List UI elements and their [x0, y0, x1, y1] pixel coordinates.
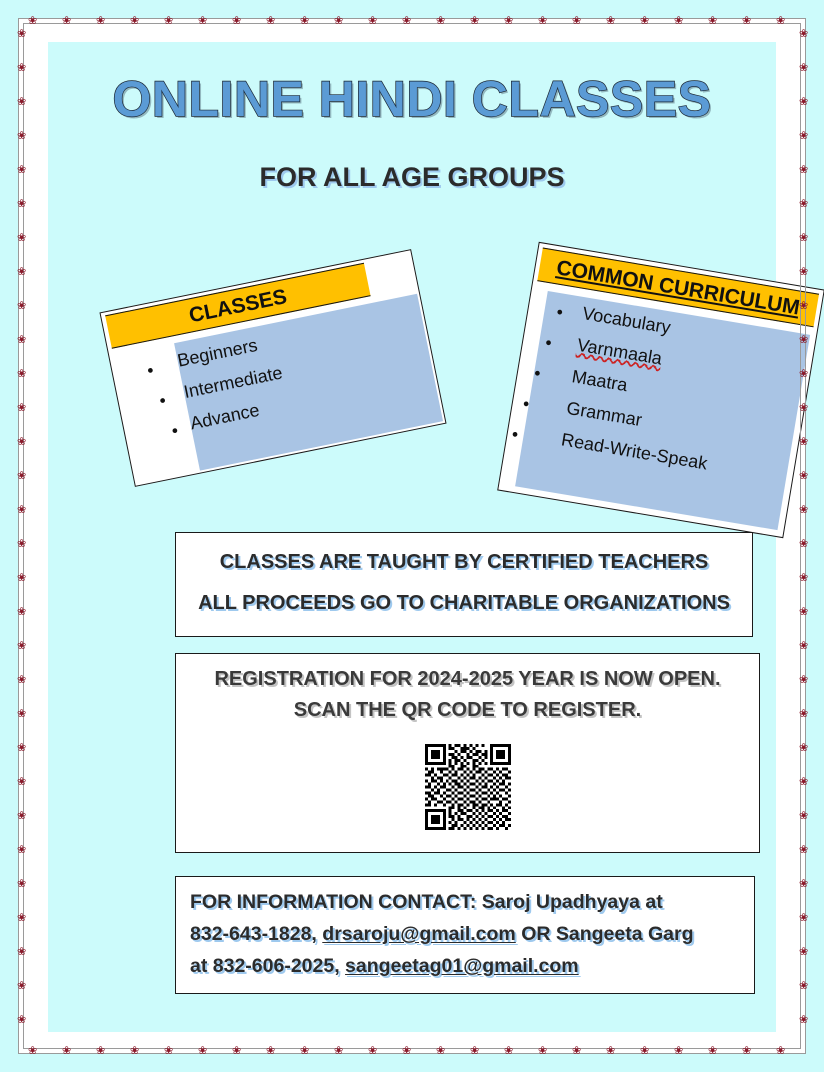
curriculum-list: Vocabulary Varnmaala Maatra Grammar Read…	[507, 295, 730, 486]
contact-line-2-suffix: OR Sangeeta Garg	[521, 923, 693, 945]
contact-phone-1: 832-643-1828,	[190, 923, 317, 945]
contact-email-1[interactable]: drsaroju@gmail.com	[322, 923, 515, 945]
qr-code-container	[176, 744, 759, 830]
page-title: ONLINE HINDI CLASSES	[48, 70, 776, 128]
registration-info-box: REGISTRATION FOR 2024-2025 YEAR IS NOW O…	[175, 653, 760, 853]
classes-card: CLASSES Beginners Intermediate Advance	[99, 249, 446, 487]
contact-phone-2: at 832-606-2025,	[190, 955, 340, 977]
registration-line-2: SCAN THE QR CODE TO REGISTER.	[176, 699, 759, 722]
contact-line-3: at 832-606-2025, sangeetag01@gmail.com	[190, 955, 754, 978]
curriculum-card: COMMON CURRICULUM Vocabulary Varnmaala M…	[497, 242, 824, 538]
registration-line-1: REGISTRATION FOR 2024-2025 YEAR IS NOW O…	[176, 668, 759, 691]
teachers-info-box: CLASSES ARE TAUGHT BY CERTIFIED TEACHERS…	[175, 532, 753, 637]
contact-line-1: FOR INFORMATION CONTACT: Saroj Upadhyaya…	[190, 891, 754, 914]
contact-info-box: FOR INFORMATION CONTACT: Saroj Upadhyaya…	[175, 876, 755, 994]
contact-line-2: 832-643-1828, drsaroju@gmail.com OR Sang…	[190, 923, 754, 946]
teachers-line-1: CLASSES ARE TAUGHT BY CERTIFIED TEACHERS	[176, 551, 752, 574]
qr-code-icon[interactable]	[425, 744, 511, 830]
page-subtitle: FOR ALL AGE GROUPS	[48, 162, 776, 193]
teachers-line-2: ALL PROCEEDS GO TO CHARITABLE ORGANIZATI…	[176, 592, 752, 615]
contact-email-2[interactable]: sangeetag01@gmail.com	[345, 955, 579, 977]
poster-inner-panel: ONLINE HINDI CLASSES FOR ALL AGE GROUPS …	[48, 42, 776, 1032]
